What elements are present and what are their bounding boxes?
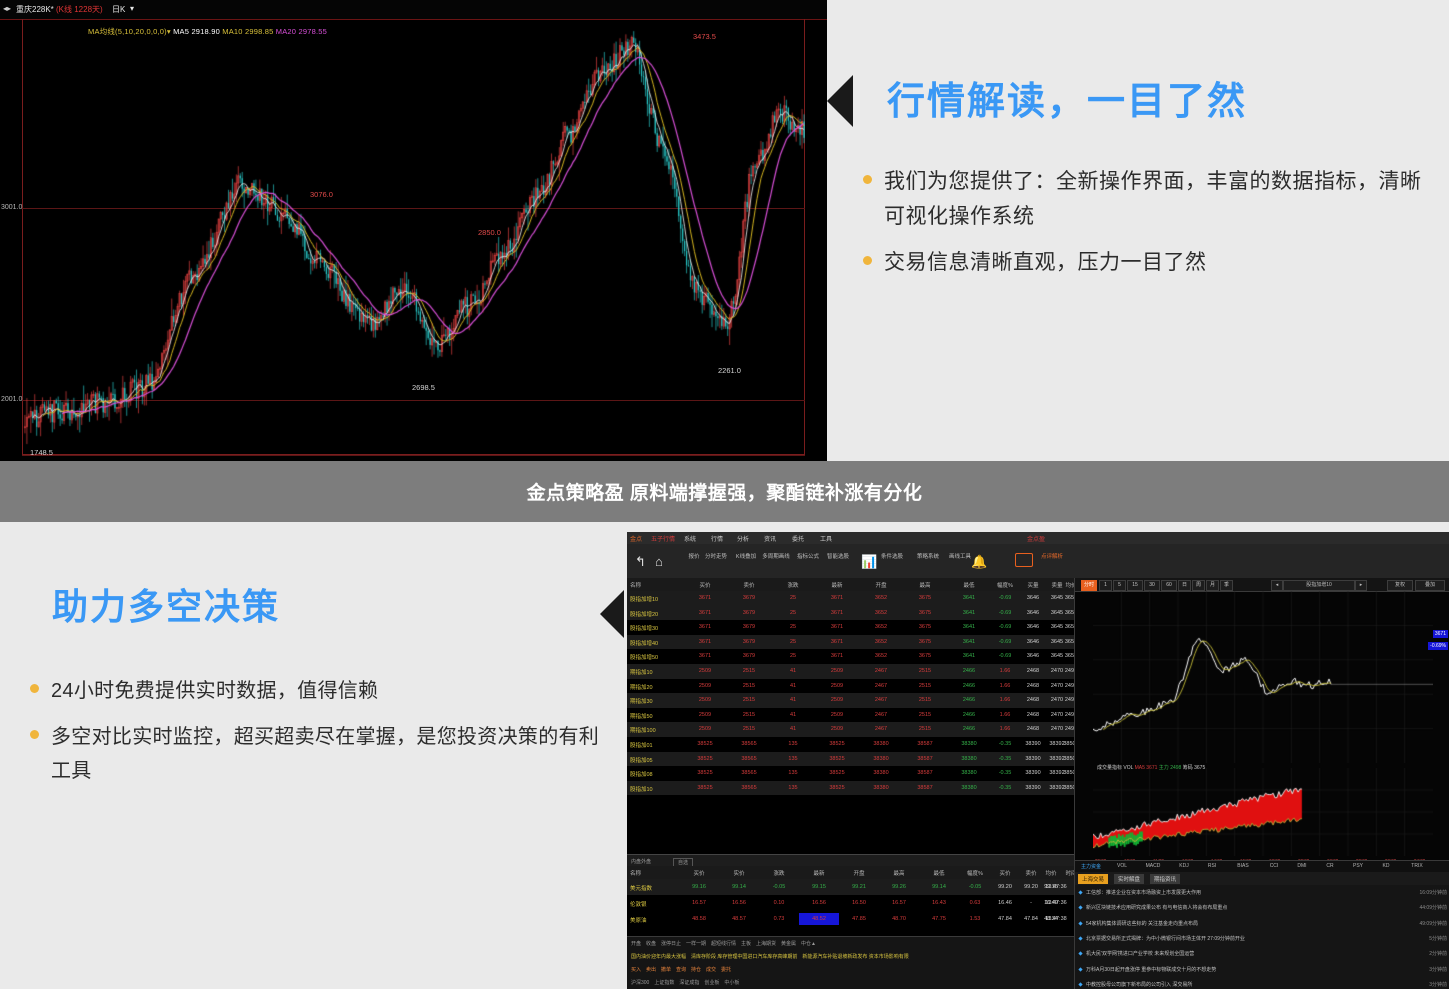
table-cell: 2515: [731, 697, 767, 703]
restore-right-button[interactable]: 复权: [1387, 580, 1413, 591]
chart-titlebar: ◂▸ 重庆228K* (K线 1228天) 日K ▾: [0, 0, 827, 20]
timeframe-季[interactable]: 季: [1220, 580, 1233, 591]
table-cell: 3652: [863, 653, 899, 659]
table-row[interactable]: 期指加100250925154125092467251524661.662468…: [627, 722, 1074, 737]
table-cell: 3679: [731, 639, 767, 645]
table-cell: 2515: [907, 712, 943, 718]
table-cell: 38587: [907, 785, 943, 791]
app-chart-pane: 分时 15153060日周月季 ◂ 股指加增10 ▸ 复权 叠加 3671 -0…: [1074, 578, 1449, 989]
y-axis-label: 3001.0: [1, 204, 22, 211]
toolbar-button-2[interactable]: K线叠加: [731, 552, 761, 560]
table-cell: 38380: [951, 785, 987, 791]
table-cell: 2515: [731, 712, 767, 718]
indicator-tab-CR[interactable]: CR: [1319, 863, 1341, 869]
column-header[interactable]: 最低: [921, 869, 957, 877]
toolbar-button-5[interactable]: 智能选股: [823, 552, 853, 560]
row-name: 股指加增30: [630, 624, 658, 632]
table-cell: 2515: [907, 668, 943, 674]
table-cell: 3671: [687, 653, 723, 659]
column-header[interactable]: 最高: [881, 869, 917, 877]
table-row[interactable]: 股指加增1036713679253671365236753641-0.69364…: [627, 591, 1074, 606]
table-cell: 47.85: [841, 916, 877, 922]
table-cell: 2509: [819, 726, 855, 732]
row-name: 股指加增40: [630, 639, 658, 647]
table-row[interactable]: 期指加20250925154125092467251524661.6624682…: [627, 679, 1074, 694]
gridline: [22, 455, 805, 456]
page-title-bottom: 助力多空决策: [52, 578, 280, 630]
indicator-tab-TRIX[interactable]: TRIX: [1403, 863, 1431, 869]
table-cell: 3671: [819, 610, 855, 616]
table-cell: 2509: [687, 712, 723, 718]
row-name: 期指加100: [630, 726, 656, 734]
table-cell: 16.57: [681, 900, 717, 906]
news-tab[interactable]: 上海交易: [1078, 874, 1108, 884]
news-item[interactable]: 万科A月30日起开盘涨停 重参中标物联成交十月的不想走势3分钟前: [1075, 962, 1449, 977]
table-cell: 48.57: [721, 916, 757, 922]
banner-text: 金点策略盈 原料端撑握强，聚酯链补涨有分化: [527, 478, 923, 505]
row-timestamp: 13:47:38: [1039, 916, 1073, 922]
table-cell: 16.43: [921, 900, 957, 906]
table-cell: 25: [775, 624, 811, 630]
menu-news[interactable]: 资讯: [764, 534, 776, 543]
news-headline: 中教控股母公司旗下新布局的公司引入 深交易所: [1086, 981, 1192, 988]
status-text: 开盘 收盘 涨停日止 一样一期 超短线行情 主板 上海期货 黄金属 中仓▲: [631, 940, 816, 947]
bullet-dot-icon: [863, 175, 872, 184]
table-cell: 38380: [863, 741, 899, 747]
table-cell: 41: [775, 697, 811, 703]
bell-icon[interactable]: 🔔: [971, 554, 987, 570]
table-cell: 3641: [951, 639, 987, 645]
row-name: 期指加20: [630, 683, 653, 691]
table-cell: 2467: [863, 697, 899, 703]
toolbar-button-review[interactable]: 点评解析: [1033, 552, 1071, 560]
bullet-text: 交易信息清晰直观，压力一目了然: [884, 246, 1207, 281]
row-name: 美原油: [630, 916, 647, 924]
menu-system[interactable]: 系统: [684, 534, 696, 543]
table-cell: 25: [775, 595, 811, 601]
column-header[interactable]: 实价: [721, 869, 757, 877]
table-row[interactable]: 股指加01385253856513538525383803858738380-0…: [627, 737, 1074, 752]
column-header[interactable]: 最高: [907, 581, 943, 589]
app-titlebar: 金点 五子行情 系统 行情 分析 资讯 委托 工具 金点盈: [627, 532, 1449, 544]
timeframe-日[interactable]: 日: [1178, 580, 1191, 591]
news-tab[interactable]: 实时解盘: [1114, 874, 1144, 884]
news-timestamp: 49:09分钟前: [1419, 920, 1447, 927]
row-name: 股指加10: [630, 785, 653, 793]
toolbar-button-7[interactable]: 策略系统: [913, 552, 943, 560]
column-header[interactable]: 涨跌: [761, 869, 797, 877]
list-item: 多空对比实时监控，超买超卖尽在掌握，是您投资决策的有利工具: [30, 720, 600, 788]
table-cell: 3675: [907, 653, 943, 659]
table-cell: 99.26: [881, 884, 917, 890]
news-item[interactable]: 54家机构集体调研这些标的 关注基金走向重点布局49:09分钟前: [1075, 916, 1449, 931]
page-title-top: 行情解读，一目了然: [887, 70, 1247, 125]
table-cell: 41: [775, 668, 811, 674]
indicator-tab-DMI[interactable]: DMI: [1291, 863, 1313, 869]
kline-chart-screenshot: ◂▸ 重庆228K* (K线 1228天) 日K ▾ 3001.0 2001.0…: [0, 0, 827, 461]
main-capital-canvas: [1093, 768, 1433, 856]
table-cell: 38380: [863, 770, 899, 776]
table-row[interactable]: 股指加增2036713679253671365236753641-0.69364…: [627, 606, 1074, 621]
chart-annotation: 2850.0: [478, 228, 501, 237]
column-header[interactable]: 最低: [951, 581, 987, 589]
toolbar-button-1[interactable]: 分时走势: [701, 552, 731, 560]
table-cell: 135: [775, 741, 811, 747]
news-item[interactable]: 新兴区块链技术应用研究成果公布 有与电信商人将会有布局重点44:09分钟前: [1075, 900, 1449, 915]
column-header[interactable]: 开盘: [841, 869, 877, 877]
row-name: 股指加05: [630, 756, 653, 764]
list-item: 24小时免费提供实时数据，值得信赖: [30, 674, 600, 708]
news-headline: 万科A月30日起开盘涨停 重参中标物联成交十月的不想走势: [1086, 966, 1216, 973]
column-header[interactable]: 名称: [630, 869, 685, 877]
indicator-tab-BIAS[interactable]: BIAS: [1229, 863, 1257, 869]
indicator-tab-MACD[interactable]: MACD: [1139, 863, 1167, 869]
table-cell: 38565: [731, 756, 767, 762]
news-item[interactable]: 工信部：推进企业在资本市场融资上市发展更大作用16:09分钟前: [1075, 885, 1449, 900]
indicator-tab-CCI[interactable]: CCI: [1263, 863, 1285, 869]
table-cell: 135: [775, 785, 811, 791]
bottom-bullet-list: 24小时免费提供实时数据，值得信赖 多空对比实时监控，超买超卖尽在掌握，是您投资…: [30, 674, 600, 800]
table-cell: 2466: [951, 712, 987, 718]
chart-annotation: 2261.0: [718, 366, 741, 375]
table-cell: 25: [775, 610, 811, 616]
indicator-tab-VOL[interactable]: VOL: [1111, 863, 1133, 869]
middle-banner: 金点策略盈 原料端撑握强，聚酯链补涨有分化: [0, 461, 1449, 522]
table-cell: 3671: [819, 595, 855, 601]
news-item[interactable]: 北京票据交易所正式揭牌：为中小微银行间市场主体开 27:09分钟前开业5分钟前: [1075, 931, 1449, 946]
table-row[interactable]: 股指加增4036713679253671365236753641-0.69364…: [627, 635, 1074, 650]
table-cell: 16.50: [841, 900, 877, 906]
row-name: 股指加增50: [630, 653, 658, 661]
news-bullet-icon: [1078, 890, 1082, 894]
table-cell: 48.58: [681, 916, 717, 922]
table-cell: 2515: [907, 726, 943, 732]
table-cell: 3679: [731, 595, 767, 601]
table-cell: 99.15: [801, 884, 837, 890]
news-timestamp: 44:09分钟前: [1419, 904, 1447, 911]
app-logo: 金点: [630, 534, 642, 543]
table-cell: 47.75: [921, 916, 957, 922]
table-cell: 16.56: [801, 900, 837, 906]
indicator-tab-RSI[interactable]: RSI: [1201, 863, 1223, 869]
quote-table[interactable]: 名称买价卖价涨跌最新开盘最高最低幅度%买量卖量均价 股指加增1036713679…: [627, 578, 1074, 854]
column-header[interactable]: 最新: [801, 869, 837, 877]
menu-quotes[interactable]: 行情: [711, 534, 723, 543]
list-item: 交易信息清晰直观，压力一目了然: [863, 246, 1438, 281]
table-cell: 2509: [819, 697, 855, 703]
news-tab-bar[interactable]: 上海交易实时解盘期指资讯: [1075, 872, 1449, 885]
bottom-text-panel: 助力多空决策 24小时免费提供实时数据，值得信赖 多空对比实时监控，超买超卖尽在…: [0, 522, 627, 989]
tab-inner-outer[interactable]: 内盘外盘: [631, 858, 651, 865]
table-cell: 2515: [731, 668, 767, 674]
table-cell: 2467: [863, 683, 899, 689]
table-cell: 38565: [731, 770, 767, 776]
timeframe-30[interactable]: 30: [1144, 580, 1160, 591]
table-cell: 38380: [951, 756, 987, 762]
table-cell: 3679: [731, 610, 767, 616]
news-list[interactable]: 工信部：推进企业在资本市场融资上市发展更大作用16:09分钟前新兴区块链技术应用…: [1075, 885, 1449, 989]
table-cell: 41: [775, 683, 811, 689]
table-cell: 3675: [907, 624, 943, 630]
chart-period[interactable]: 日K: [112, 4, 125, 15]
y-axis-label: 2001.0: [1, 396, 22, 403]
chart-annotation: 3076.0: [310, 190, 333, 199]
column-header[interactable]: 卖价: [731, 581, 767, 589]
table-row[interactable]: 期指加10250925154125092467251524661.6624682…: [627, 664, 1074, 679]
news-bullet-icon: [1078, 906, 1082, 910]
top-bullet-list: 我们为您提供了：全新操作界面，丰富的数据指标，清晰可视化操作系统 交易信息清晰直…: [863, 165, 1438, 293]
table-cell: 38525: [687, 785, 723, 791]
app-status-strip: 开盘 收盘 涨停日止 一样一期 超短线行情 主板 上海期货 黄金属 中仓▲ 国内…: [627, 936, 1074, 989]
news-bullet-icon: [1078, 967, 1082, 971]
chart-code: 重庆228K*: [16, 4, 54, 15]
column-header[interactable]: 买价: [687, 581, 723, 589]
news-tab[interactable]: 期指资讯: [1150, 874, 1180, 884]
table-cell: 99.21: [841, 884, 877, 890]
column-header[interactable]: 涨跌: [775, 581, 811, 589]
list-item: 我们为您提供了：全新操作界面，丰富的数据指标，清晰可视化操作系统: [863, 165, 1438, 234]
trading-app-screenshot: 金点 五子行情 系统 行情 分析 资讯 委托 工具 金点盈 ↰ ⌂ 报价分时走势…: [627, 532, 1449, 989]
table-cell: 2509: [687, 683, 723, 689]
table-cell: 38525: [687, 770, 723, 776]
table-cell: 3641: [951, 624, 987, 630]
news-headline: 54家机构集体调研这些标的 关注基金走向重点布局: [1086, 920, 1198, 927]
app-window-title: 金点盈: [1027, 534, 1045, 543]
chart-annotation: 2698.5: [412, 383, 435, 392]
indicator-tab-PSY[interactable]: PSY: [1347, 863, 1369, 869]
top-section: ◂▸ 重庆228K* (K线 1228天) 日K ▾ 3001.0 2001.0…: [0, 0, 1449, 461]
table-cell: 3641: [951, 610, 987, 616]
table-row[interactable]: 股指加增5036713679253671365236753641-0.69364…: [627, 649, 1074, 664]
table-cell: 2467: [863, 726, 899, 732]
indicator-tab-KDJ[interactable]: KDJ: [1173, 863, 1195, 869]
table-cell: 38380: [951, 770, 987, 776]
row-name: 股指加08: [630, 770, 653, 778]
status-ticker: 国内油价迎年内最大涨幅 清库存阶段 库存管理中国进口汽车库存高峰期前 新能源汽车…: [631, 953, 909, 960]
home-icon[interactable]: ⌂: [655, 554, 663, 569]
table-cell: 3671: [819, 653, 855, 659]
table-row[interactable]: 股指加增3036713679253671365236753641-0.69364…: [627, 620, 1074, 635]
table-cell: 25: [775, 653, 811, 659]
table-cell: 2466: [951, 697, 987, 703]
row-name: 美元指数: [630, 884, 652, 892]
index-table[interactable]: 名称买价实价涨跌最新开盘最高最低幅度%买价卖价均价时间 美元指数99.1699.…: [627, 866, 1074, 936]
app-toolbar[interactable]: ↰ ⌂ 报价分时走势K线叠加多周期画线指标公式智能选股条件选股策略系统画线工具点…: [627, 544, 1449, 579]
table-cell: 3671: [687, 610, 723, 616]
table-cell: 38525: [819, 785, 855, 791]
bullet-dot-icon: [863, 256, 872, 265]
row-timestamp: 13:47:36: [1039, 900, 1073, 906]
table-cell: 3671: [687, 624, 723, 630]
timeframe-周[interactable]: 周: [1192, 580, 1205, 591]
slide-page: ◂▸ 重庆228K* (K线 1228天) 日K ▾ 3001.0 2001.0…: [0, 0, 1449, 989]
news-bullet-icon: [1078, 982, 1082, 986]
news-headline: 北京票据交易所正式揭牌：为中小微银行间市场主体开 27:09分钟前开业: [1086, 935, 1245, 942]
table-cell: 16.57: [881, 900, 917, 906]
table-cell: 3652: [863, 624, 899, 630]
table-cell: 48.52: [801, 916, 837, 922]
table-cell: 38565: [731, 741, 767, 747]
bottom-section: 助力多空决策 24小时免费提供实时数据，值得信赖 多空对比实时监控，超买超卖尽在…: [0, 522, 1449, 989]
news-bullet-icon: [1078, 921, 1082, 925]
row-name: 股指加增10: [630, 595, 658, 603]
table-cell: 2467: [863, 668, 899, 674]
table-cell: 25: [775, 639, 811, 645]
table-cell: 38587: [907, 741, 943, 747]
prev-contract-button[interactable]: ◂: [1271, 580, 1283, 591]
row-name: 股指加增20: [630, 610, 658, 618]
status-footer: 沪深300 上证指数 深证成指 创业板 中小板: [631, 979, 739, 986]
table-cell: 2509: [819, 668, 855, 674]
table-cell: 2466: [951, 726, 987, 732]
table-cell: 3671: [819, 624, 855, 630]
news-headline: 工信部：推进企业在资本市场融资上市发展更大作用: [1086, 889, 1201, 896]
row-name: 期指加30: [630, 697, 653, 705]
table-cell: 38525: [819, 741, 855, 747]
table-header-row: 名称买价卖价涨跌最新开盘最高最低幅度%买量卖量均价: [627, 578, 1074, 592]
intraday-line-canvas: [1093, 591, 1433, 763]
table-cell: 41: [775, 712, 811, 718]
news-timestamp: 16:09分钟前: [1419, 889, 1447, 896]
news-timestamp: 3分钟前: [1429, 966, 1447, 973]
news-bullet-icon: [1078, 936, 1082, 940]
toolbar-button-3[interactable]: 多周期画线: [761, 552, 791, 560]
table-cell: 135: [775, 770, 811, 776]
table-cell: 41: [775, 726, 811, 732]
table-cell: 2515: [731, 683, 767, 689]
table-cell: 2509: [687, 697, 723, 703]
indicator-tab-KD[interactable]: KD: [1375, 863, 1397, 869]
table-row[interactable]: 期指加50250925154125092467251524661.6624682…: [627, 708, 1074, 723]
timeframe-5[interactable]: 5: [1113, 580, 1126, 591]
table-cell: 2515: [907, 683, 943, 689]
table-header-row: 名称买价实价涨跌最新开盘最高最低幅度%买价卖价均价时间: [627, 866, 1074, 880]
chart-annotation: 1748.5: [30, 448, 53, 457]
table-row[interactable]: 股指加08385253856513538525383803858738380-0…: [627, 766, 1074, 781]
news-bullet-icon: [1078, 952, 1082, 956]
table-cell: 38525: [819, 770, 855, 776]
table-cell: 48.70: [881, 916, 917, 922]
table-row[interactable]: 股指加10385253856513538525383803858738380-0…: [627, 781, 1074, 796]
news-item[interactable]: 机大民'双学网'携进口产业学校 未来规划全国运营2分钟前: [1075, 946, 1449, 961]
news-timestamp: 5分钟前: [1429, 935, 1447, 942]
table-cell: 38587: [907, 770, 943, 776]
bullet-dot-icon: [30, 730, 39, 739]
table-row[interactable]: 伦敦银16.5716.560.1016.5616.5016.5716.430.6…: [627, 895, 1074, 911]
table-cell: 2467: [863, 712, 899, 718]
table-cell: 0.10: [761, 900, 797, 906]
chart-market: (K线 1228天): [56, 4, 103, 15]
row-name: 伦敦银: [630, 900, 647, 908]
back-arrow-icon[interactable]: ↰: [635, 554, 646, 570]
table-row[interactable]: 期指加30250925154125092467251524661.6624682…: [627, 693, 1074, 708]
top-text-panel: 行情解读，一目了然 我们为您提供了：全新操作界面，丰富的数据指标，清晰可视化操作…: [827, 0, 1449, 461]
chevron-down-icon[interactable]: ▾: [130, 4, 134, 13]
column-header[interactable]: 最新: [819, 581, 855, 589]
table-cell: 3652: [863, 610, 899, 616]
row-name: 期指加50: [630, 712, 653, 720]
table-cell: 2466: [951, 683, 987, 689]
column-header[interactable]: 名称: [630, 581, 690, 589]
chart-icon[interactable]: 📊: [861, 554, 877, 570]
row-name: 期指加10: [630, 668, 653, 676]
timeframe-1[interactable]: 1: [1099, 580, 1112, 591]
timeframe-月[interactable]: 月: [1206, 580, 1219, 591]
bullet-text: 多空对比实时监控，超买超卖尽在掌握，是您投资决策的有利工具: [51, 720, 600, 788]
table-cell: 3671: [687, 595, 723, 601]
timeframe-15[interactable]: 15: [1127, 580, 1143, 591]
table-cell: 3652: [863, 639, 899, 645]
table-row[interactable]: 美元指数99.1699.14-0.0599.1599.2199.2699.14-…: [627, 879, 1074, 895]
contract-selector[interactable]: 股指加增10: [1283, 580, 1355, 591]
table-row[interactable]: 美原油48.5848.570.7348.5247.8548.7047.751.5…: [627, 911, 1074, 927]
news-timestamp: 3分钟前: [1429, 981, 1447, 988]
indicator-tab-主力资金[interactable]: 主力资金: [1077, 863, 1105, 870]
table-cell: 3671: [819, 639, 855, 645]
table-cell: 2466: [951, 668, 987, 674]
app-subtitle: 五子行情: [651, 534, 675, 543]
table-cell: 3675: [907, 595, 943, 601]
table-cell: 2509: [819, 712, 855, 718]
table-cell: 135: [775, 756, 811, 762]
table-cell: 2509: [687, 668, 723, 674]
menu-tools[interactable]: 工具: [820, 534, 832, 543]
table-cell: 38587: [907, 756, 943, 762]
table-cell: 99.14: [921, 884, 957, 890]
table-cell: 3675: [907, 639, 943, 645]
tf-minute[interactable]: 分时: [1081, 580, 1097, 591]
table-cell: 2509: [819, 683, 855, 689]
table-cell: 16.56: [721, 900, 757, 906]
table-cell: 38525: [687, 741, 723, 747]
price-tag-change: -0.69%: [1428, 642, 1448, 650]
table-cell: 99.16: [681, 884, 717, 890]
monitor-icon[interactable]: [1015, 553, 1033, 567]
pointer-arrow-icon: [827, 75, 853, 127]
price-tag-current: 3671: [1433, 630, 1448, 638]
table-cell: 38380: [863, 756, 899, 762]
menu-trade[interactable]: 委托: [792, 534, 804, 543]
table-cell: 38380: [951, 741, 987, 747]
table-cell: 38380: [863, 785, 899, 791]
chart-nav-icon[interactable]: ◂▸: [3, 4, 11, 13]
timeframe-60[interactable]: 60: [1161, 580, 1177, 591]
table-cell: -0.05: [761, 884, 797, 890]
news-timestamp: 2分钟前: [1429, 950, 1447, 957]
table-cell: 38525: [687, 756, 723, 762]
toolbar-button-6[interactable]: 条件选股: [877, 552, 907, 560]
toolbar-button-4[interactable]: 指标公式: [793, 552, 823, 560]
table-cell: 3641: [951, 595, 987, 601]
column-header[interactable]: 开盘: [863, 581, 899, 589]
table-cell: 3641: [951, 653, 987, 659]
overlay-button[interactable]: 叠加: [1415, 580, 1445, 591]
chart-toolbar[interactable]: 分时 15153060日周月季 ◂ 股指加增10 ▸ 复权 叠加: [1075, 578, 1449, 592]
bullet-text: 我们为您提供了：全新操作界面，丰富的数据指标，清晰可视化操作系统: [884, 165, 1438, 234]
table-cell: 2509: [687, 726, 723, 732]
news-item[interactable]: 中教控股母公司旗下新布局的公司引入 深交易所3分钟前: [1075, 977, 1449, 989]
table-cell: 3675: [907, 610, 943, 616]
next-contract-button[interactable]: ▸: [1355, 580, 1367, 591]
table-cell: 38525: [819, 756, 855, 762]
table-row[interactable]: 股指加05385253856513538525383803858738380-0…: [627, 752, 1074, 767]
news-headline: 机大民'双学网'携进口产业学校 未来规划全国运营: [1086, 950, 1194, 957]
bullet-dot-icon: [30, 684, 39, 693]
column-header[interactable]: 买价: [681, 869, 717, 877]
chart-annotation: 3473.5: [693, 32, 716, 41]
menu-analysis[interactable]: 分析: [737, 534, 749, 543]
status-buttons[interactable]: 买入 卖出 撤单 查询 持仓 成交 委托: [631, 966, 731, 973]
